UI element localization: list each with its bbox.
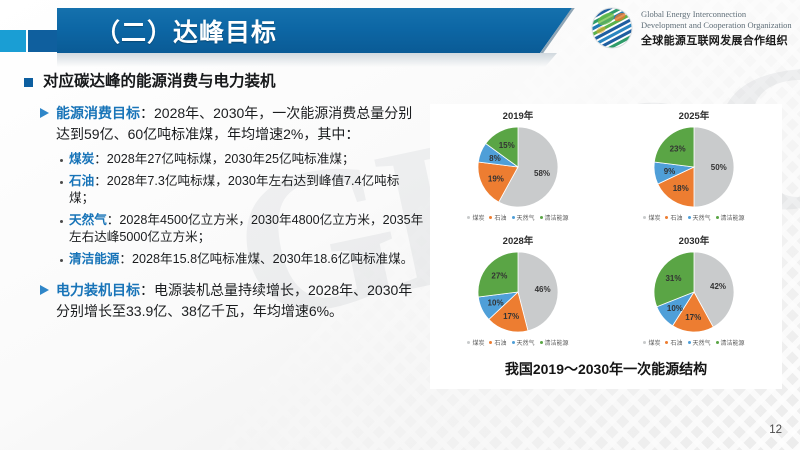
legend-swatch-icon [688,216,691,219]
legend-swatch-icon [540,216,543,219]
legend-item-清洁能源: 清洁能源 [716,338,745,347]
legend-swatch-icon [716,216,719,219]
legend-swatch-icon [716,341,719,344]
pie-slice-label: 42% [710,282,726,291]
pie-slice-label: 15% [499,141,515,150]
pie-slice-label: 19% [488,174,504,183]
legend-label: 煤炭 [472,338,484,347]
subbullet-label-clean-energy: 清洁能源 [69,252,119,266]
content-heading-label: 对应碳达峰的能源消费与电力装机 [43,72,276,92]
legend-swatch-icon [643,216,646,219]
logo-english-line1: Global Energy Interconnection [641,9,792,20]
pie-chart-title: 2019年 [503,108,534,122]
pie-slice-label: 23% [670,144,686,153]
pie-legend: 煤炭石油天然气清洁能源 [467,213,568,222]
legend-label: 石油 [494,338,506,347]
pie-slice-label: 50% [711,163,727,172]
arrow-bullet-icon [40,108,49,118]
legend-label: 石油 [494,213,506,222]
dot-bullet-icon [60,159,63,162]
subbullet-text-clean-energy: ：2028年15.8亿吨标准煤、2030年18.6亿吨标准煤。 [119,252,413,266]
legend-item-清洁能源: 清洁能源 [716,213,745,222]
legend-swatch-icon [512,216,515,219]
pie-slice-label: 31% [665,274,681,283]
legend-swatch-icon [489,216,492,219]
pie-legend: 煤炭石油天然气清洁能源 [643,213,744,222]
legend-item-煤炭: 煤炭 [643,338,660,347]
legend-swatch-icon [665,341,668,344]
legend-swatch-icon [688,341,691,344]
pie-chart-title: 2028年 [503,233,534,247]
legend-swatch-icon [467,341,470,344]
pie-slice-label: 10% [667,304,683,313]
header-tab-light [0,30,26,52]
logo-chinese: 全球能源互联网发展合作组织 [641,32,792,48]
slide-canvas: GEIDCO （二）达峰目标 [0,0,800,450]
pie-chart-2025年: 2025年50%18%9%23%煤炭石油天然气清洁能源 [606,108,782,233]
pie-slice-label: 46% [535,285,551,294]
legend-label: 清洁能源 [545,213,569,222]
legend-label: 石油 [670,338,682,347]
pie-slice-label: 18% [673,184,689,193]
legend-swatch-icon [512,341,515,344]
pie-slice-label: 9% [664,167,676,176]
legend-item-天然气: 天然气 [512,213,535,222]
legend-item-清洁能源: 清洁能源 [540,213,569,222]
pie-slice-label: 10% [488,299,504,308]
subbullet-label-gas: 天然气 [69,213,107,227]
bullet-energy-consumption: 能源消费目标：2028年、2030年，一次能源消费总量分别达到59亿、60亿吨标… [40,103,424,144]
legend-item-煤炭: 煤炭 [467,213,484,222]
dot-bullet-icon [60,259,63,262]
content-heading: 对应碳达峰的能源消费与电力装机 [24,72,424,92]
logo-english-line2: Development and Cooperation Organization [641,20,792,31]
pie-chart-title: 2025年 [679,108,710,122]
legend-item-天然气: 天然气 [688,338,711,347]
title-band-shadow [57,53,557,67]
square-bullet-icon [24,78,33,87]
content-text-column: 对应碳达峰的能源消费与电力装机 能源消费目标：2028年、2030年，一次能源消… [24,72,424,328]
legend-label: 清洁能源 [721,213,745,222]
legend-swatch-icon [467,216,470,219]
pie-legend: 煤炭石油天然气清洁能源 [643,338,744,347]
pie-chart-title: 2030年 [679,233,710,247]
subbullet-label-coal: 煤炭 [69,152,94,166]
legend-label: 清洁能源 [545,338,569,347]
pie-chart-2030年: 2030年42%17%10%31%煤炭石油天然气清洁能源 [606,233,782,358]
pie-slice-label: 27% [491,272,507,281]
pie-slice-label: 58% [534,169,550,178]
legend-label: 天然气 [517,213,535,222]
subbullet-coal: 煤炭：2028年27亿吨标煤，2030年25亿吨标准煤； [60,151,424,169]
legend-label: 清洁能源 [721,338,745,347]
legend-swatch-icon [540,341,543,344]
pie-svg: 58%19%8%15% [474,123,562,211]
subbullet-clean-energy: 清洁能源：2028年15.8亿吨标准煤、2030年18.6亿吨标准煤。 [60,251,424,269]
legend-swatch-icon [643,341,646,344]
bullet-label-power-capacity: 电力装机目标 [56,282,140,298]
pie-chart-2019年: 2019年58%19%8%15%煤炭石油天然气清洁能源 [430,108,606,233]
page-number: 12 [769,424,782,436]
pie-slice-label: 17% [503,312,519,321]
pie-chart-grid: 2019年58%19%8%15%煤炭石油天然气清洁能源2025年50%18%9%… [430,108,782,358]
subbullet-text-gas: ：2028年4500亿立方米，2030年4800亿立方米，2035年左右达峰50… [69,213,423,245]
legend-item-石油: 石油 [665,213,682,222]
pie-svg: 46%17%10%27% [474,248,562,336]
legend-label: 煤炭 [648,213,660,222]
subbullet-oil: 石油：2028年7.3亿吨标煤，2030年左右达到峰值7.4亿吨标煤； [60,173,424,208]
globe-icon [590,6,634,50]
legend-label: 石油 [670,213,682,222]
subbullet-text-coal: ：2028年27亿吨标煤，2030年25亿吨标准煤； [94,152,354,166]
legend-label: 天然气 [693,213,711,222]
legend-item-煤炭: 煤炭 [467,338,484,347]
arrow-bullet-icon [40,285,49,295]
pie-legend: 煤炭石油天然气清洁能源 [467,338,568,347]
bullet-label-energy-consumption: 能源消费目标 [56,105,140,121]
dot-bullet-icon [60,220,63,223]
pie-svg: 42%17%10%31% [650,248,738,336]
subbullet-label-oil: 石油 [69,174,94,188]
legend-item-石油: 石油 [489,338,506,347]
dot-bullet-icon [60,181,63,184]
pie-svg: 50%18%9%23% [650,123,738,211]
pie-chart-2028年: 2028年46%17%10%27%煤炭石油天然气清洁能源 [430,233,606,358]
energy-structure-chart-panel: 2019年58%19%8%15%煤炭石油天然气清洁能源2025年50%18%9%… [430,104,782,389]
legend-item-煤炭: 煤炭 [643,213,660,222]
legend-label: 天然气 [693,338,711,347]
legend-item-石油: 石油 [489,213,506,222]
subbullet-text-oil: ：2028年7.3亿吨标煤，2030年左右达到峰值7.4亿吨标煤； [69,174,399,206]
organization-logo: Global Energy Interconnection Developmen… [590,6,792,50]
legend-item-天然气: 天然气 [688,213,711,222]
pie-slice-label: 17% [685,313,701,322]
chart-caption: 我国2019～2030年一次能源结构 [430,359,782,379]
legend-swatch-icon [665,216,668,219]
legend-item-天然气: 天然气 [512,338,535,347]
title-band: （二）达峰目标 [57,8,572,53]
legend-label: 煤炭 [648,338,660,347]
pie-slice-label: 8% [489,154,501,163]
subbullet-gas: 天然气：2028年4500亿立方米，2030年4800亿立方米，2035年左右达… [60,212,424,247]
legend-item-石油: 石油 [665,338,682,347]
bullet-power-capacity: 电力装机目标：电源装机总量持续增长，2028年、2030年分别增长至33.9亿、… [40,280,424,321]
slide-header: （二）达峰目标 [0,0,800,66]
legend-swatch-icon [489,341,492,344]
page-title: （二）达峰目标 [57,13,277,49]
legend-item-清洁能源: 清洁能源 [540,338,569,347]
legend-label: 煤炭 [472,213,484,222]
legend-label: 天然气 [517,338,535,347]
